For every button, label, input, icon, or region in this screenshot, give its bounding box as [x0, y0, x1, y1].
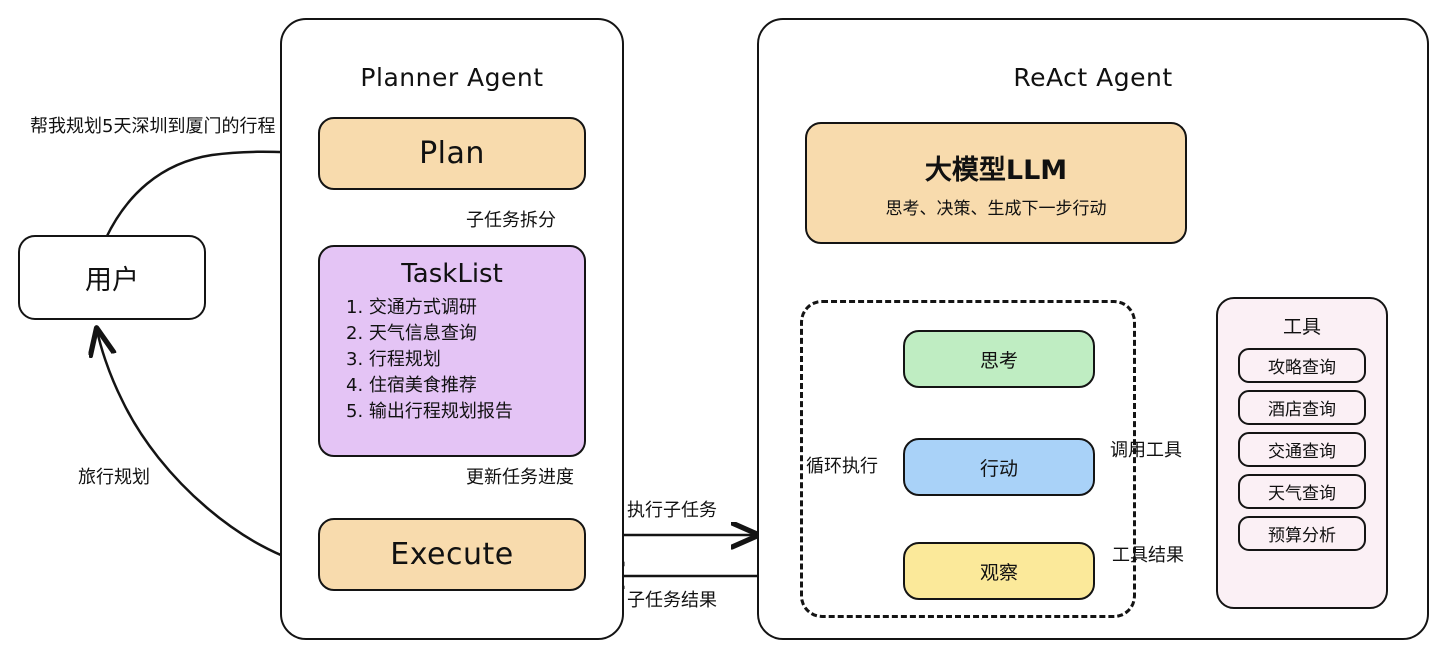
panel-react-title: ReAct Agent	[759, 63, 1427, 92]
tasklist-items: 1. 交通方式调研 2. 天气信息查询 3. 行程规划 4. 住宿美食推荐 5.…	[320, 295, 513, 425]
node-think[interactable]: 思考	[903, 330, 1095, 388]
tool-item-label: 天气查询	[1268, 479, 1336, 504]
node-plan-label: Plan	[419, 136, 485, 171]
edge-label-task-split: 子任务拆分	[466, 206, 556, 232]
node-observe[interactable]: 观察	[903, 542, 1095, 600]
node-llm[interactable]: 大模型LLM 思考、决策、生成下一步行动	[805, 122, 1187, 244]
list-item: 3. 行程规划	[346, 347, 513, 373]
tool-item-label: 攻略查询	[1268, 353, 1336, 378]
edge-label-call-tool: 调用工具	[1110, 436, 1182, 462]
node-observe-label: 观察	[980, 558, 1018, 585]
panel-planner-title: Planner Agent	[282, 63, 622, 92]
tool-item-label: 预算分析	[1268, 521, 1336, 546]
diagram-canvas: Planner Agent ReAct Agent 用户 Plan TaskLi…	[0, 0, 1440, 666]
tool-item-hotel-query[interactable]: 酒店查询	[1238, 390, 1366, 425]
node-llm-subtitle: 思考、决策、生成下一步行动	[886, 194, 1107, 219]
node-think-label: 思考	[980, 346, 1018, 373]
edge-label-loop-execute: 循环执行	[806, 452, 878, 478]
panel-tools-title: 工具	[1283, 312, 1321, 339]
edge-label-tool-result: 工具结果	[1112, 541, 1184, 567]
tool-item-budget-analysis[interactable]: 预算分析	[1238, 516, 1366, 551]
edge-label-subtask-result: 子任务结果	[627, 586, 717, 612]
edge-label-user-request: 帮我规划5天深圳到厦门的行程	[30, 112, 275, 138]
node-execute[interactable]: Execute	[318, 518, 586, 591]
tool-item-transport-query[interactable]: 交通查询	[1238, 432, 1366, 467]
list-item: 2. 天气信息查询	[346, 321, 513, 347]
node-user-label: 用户	[85, 258, 139, 297]
tool-item-strategy-query[interactable]: 攻略查询	[1238, 348, 1366, 383]
list-item: 4. 住宿美食推荐	[346, 373, 513, 399]
node-tasklist[interactable]: TaskList 1. 交通方式调研 2. 天气信息查询 3. 行程规划 4. …	[318, 245, 586, 457]
list-item: 1. 交通方式调研	[346, 295, 513, 321]
edge-label-update-progress: 更新任务进度	[466, 463, 574, 489]
node-llm-title: 大模型LLM	[925, 148, 1067, 187]
node-act-label: 行动	[980, 454, 1018, 481]
node-execute-label: Execute	[390, 537, 513, 572]
tool-item-label: 酒店查询	[1268, 395, 1336, 420]
edge-label-travel-plan: 旅行规划	[78, 463, 150, 489]
node-user[interactable]: 用户	[18, 235, 206, 320]
node-plan[interactable]: Plan	[318, 117, 586, 190]
edge-label-execute-subtask: 执行子任务	[627, 496, 717, 522]
list-item: 5. 输出行程规划报告	[346, 399, 513, 425]
panel-tools: 工具 攻略查询 酒店查询 交通查询 天气查询 预算分析	[1216, 297, 1388, 609]
tool-item-weather-query[interactable]: 天气查询	[1238, 474, 1366, 509]
node-tasklist-title: TaskList	[320, 259, 584, 289]
node-act[interactable]: 行动	[903, 438, 1095, 496]
tool-item-label: 交通查询	[1268, 437, 1336, 462]
